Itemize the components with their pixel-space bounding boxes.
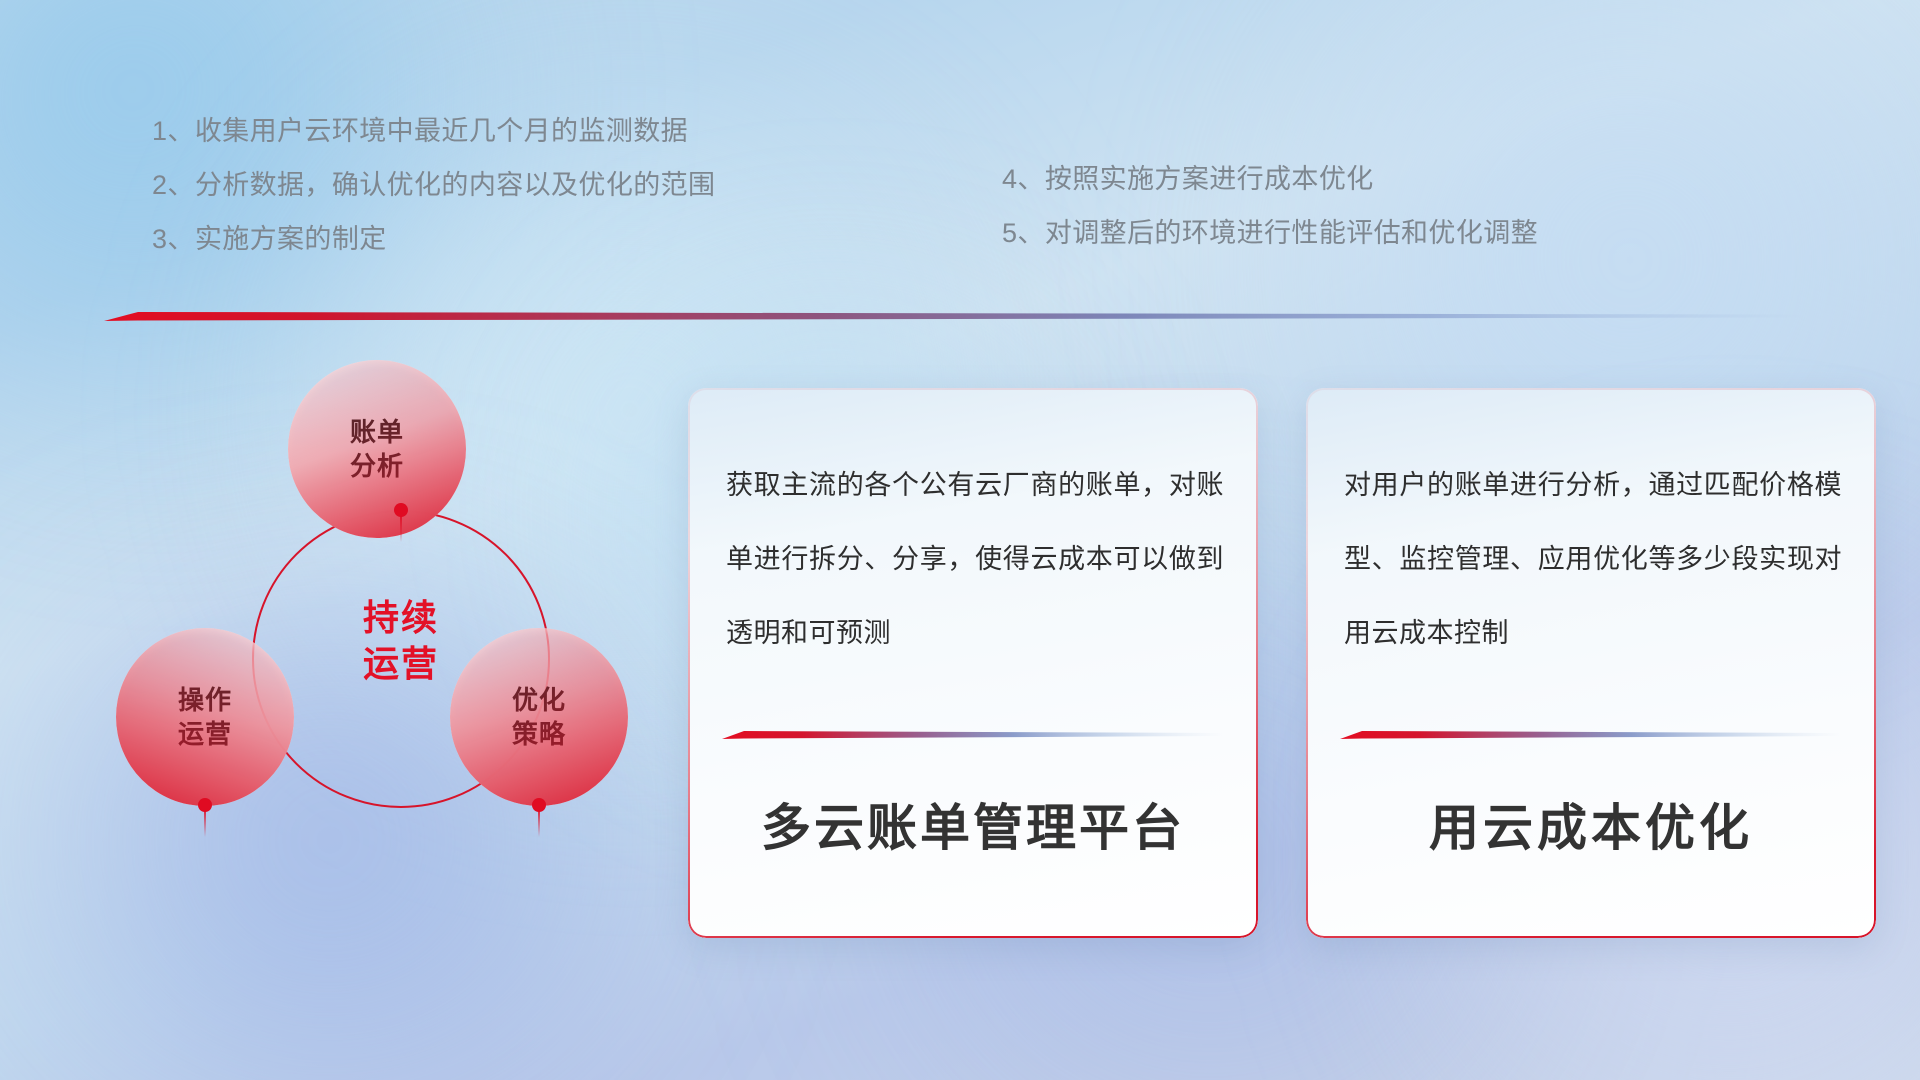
card-accent-rule <box>722 728 1224 740</box>
slide-root: 1、收集用户云环境中最近几个月的监测数据 2、分析数据，确认优化的内容以及优化的… <box>0 0 1920 1080</box>
section-divider-shape <box>104 310 1804 324</box>
node-stem-left <box>204 811 206 837</box>
node-stem-right <box>538 811 540 837</box>
card-title: 用云成本优化 <box>1306 788 1876 860</box>
step-item: 3、实施方案的制定 <box>152 212 715 266</box>
node-stem-top <box>400 516 402 542</box>
card-accent-rule-shape <box>1340 729 1842 741</box>
card-accent-rule-shape <box>722 729 1224 741</box>
diagram-bubble-operations[interactable]: 操作 运营 <box>116 628 294 806</box>
feature-card-multicloud-billing[interactable]: 获取主流的各个公有云厂商的账单，对账单进行拆分、分享，使得云成本可以做到透明和可… <box>688 388 1258 938</box>
bubble-label-line-2: 策略 <box>512 717 566 751</box>
step-item: 1、收集用户云环境中最近几个月的监测数据 <box>152 104 715 158</box>
step-list-right: 4、按照实施方案进行成本优化 5、对调整后的环境进行性能评估和优化调整 <box>1002 152 1538 260</box>
diagram-bubble-bill-analysis[interactable]: 账单 分析 <box>288 360 466 538</box>
diagram-bubble-optimization-strategy[interactable]: 优化 策略 <box>450 628 628 806</box>
node-dot-left <box>198 798 212 812</box>
card-description: 对用户的账单进行分析，通过匹配价格模型、监控管理、应用优化等多少段实现对用云成本… <box>1344 448 1842 670</box>
continuous-operation-diagram: 持续 运营 账单 分析 操作 运营 优化 策略 <box>98 340 628 940</box>
bubble-label-line-1: 操作 <box>178 683 232 717</box>
feature-card-cloud-cost-optimization[interactable]: 对用户的账单进行分析，通过匹配价格模型、监控管理、应用优化等多少段实现对用云成本… <box>1306 388 1876 938</box>
bubble-label-line-2: 运营 <box>178 717 232 751</box>
node-dot-right <box>532 798 546 812</box>
step-item: 5、对调整后的环境进行性能评估和优化调整 <box>1002 206 1538 260</box>
card-title: 多云账单管理平台 <box>688 788 1258 860</box>
bubble-label-line-1: 优化 <box>512 683 566 717</box>
step-item: 4、按照实施方案进行成本优化 <box>1002 152 1538 206</box>
step-item: 2、分析数据，确认优化的内容以及优化的范围 <box>152 158 715 212</box>
step-list-left: 1、收集用户云环境中最近几个月的监测数据 2、分析数据，确认优化的内容以及优化的… <box>152 104 715 266</box>
bubble-label-line-1: 账单 <box>350 415 404 449</box>
bubble-label-line-2: 分析 <box>350 449 404 483</box>
card-description: 获取主流的各个公有云厂商的账单，对账单进行拆分、分享，使得云成本可以做到透明和可… <box>726 448 1224 670</box>
section-divider <box>104 310 1804 324</box>
node-dot-top <box>394 503 408 517</box>
card-accent-rule <box>1340 728 1842 740</box>
